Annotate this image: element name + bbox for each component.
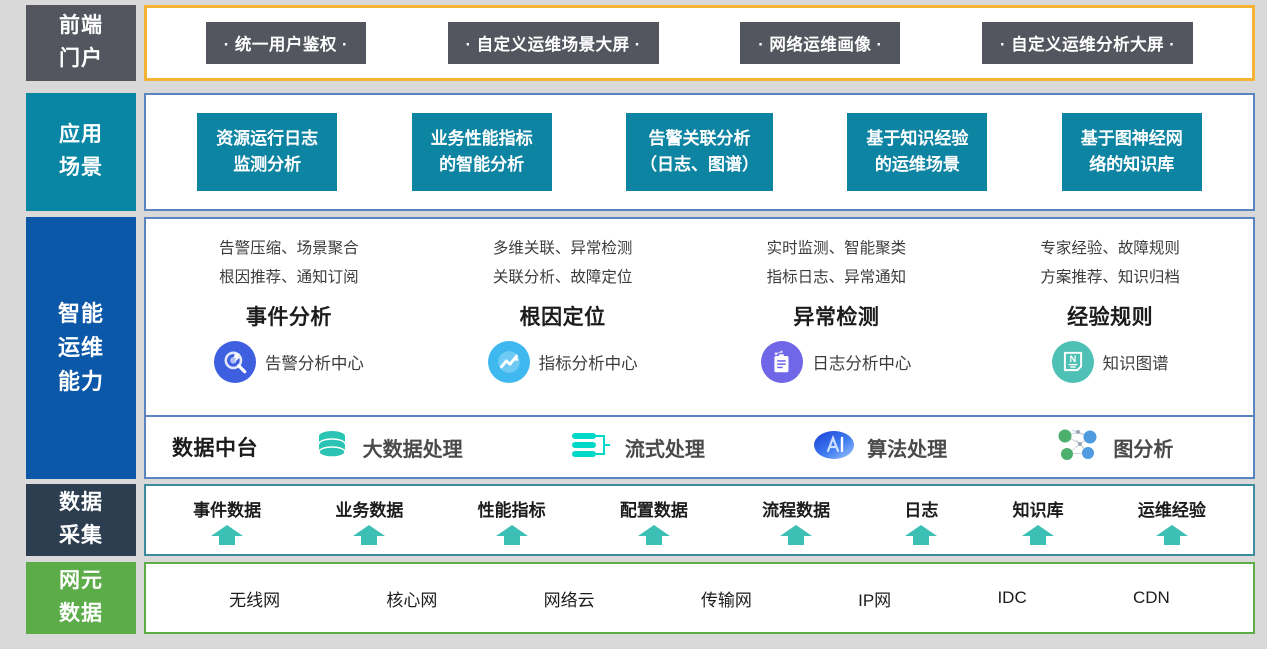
up-arrow-icon bbox=[210, 524, 244, 546]
app-card-alarm-correlation-line1: 告警关联分析 bbox=[640, 126, 759, 152]
data-platform-item-stream[interactable]: 流式处理 bbox=[570, 428, 705, 467]
data-platform-title: 数据中台 bbox=[172, 432, 258, 462]
capability-anomaly-detection-bullets: 实时监测、智能聚类 指标日志、异常通知 bbox=[767, 235, 907, 292]
app-card-gnn-knowledge-base-line2: 络的知识库 bbox=[1076, 152, 1188, 178]
clipboard-log-icon bbox=[761, 341, 803, 383]
capability-event-analysis-icon-row[interactable]: 告警分析中心 bbox=[214, 341, 364, 383]
layer-label-aiops-line1: 智能 bbox=[58, 297, 104, 331]
data-platform-label-stream: 流式处理 bbox=[625, 433, 705, 462]
layer-label-apps-line2: 场景 bbox=[59, 152, 103, 185]
ai-icon bbox=[812, 428, 856, 467]
capability-experience-rules-title: 经验规则 bbox=[1067, 301, 1153, 331]
ne-item-core[interactable]: 核心网 bbox=[386, 586, 437, 611]
data-platform-items: 大数据处理 流式处理 bbox=[258, 426, 1227, 469]
bullet-line: 指标日志、异常通知 bbox=[767, 264, 907, 293]
trend-up-icon bbox=[488, 341, 530, 383]
capability-root-cause-icon-label: 指标分析中心 bbox=[539, 350, 638, 374]
app-card-business-kpi-line2: 的智能分析 bbox=[426, 152, 538, 178]
ne-item-wireless[interactable]: 无线网 bbox=[229, 586, 280, 611]
collection-item-process-data[interactable]: 流程数据 bbox=[762, 496, 830, 546]
collection-item-business-data[interactable]: 业务数据 bbox=[335, 496, 403, 546]
up-arrow-icon bbox=[1155, 524, 1189, 546]
collection-label: 性能指标 bbox=[478, 496, 546, 521]
data-platform-panel: 数据中台 大数据处理 bbox=[144, 417, 1255, 479]
app-card-gnn-knowledge-base-line1: 基于图神经网 bbox=[1076, 126, 1188, 152]
collection-label: 配置数据 bbox=[620, 496, 688, 521]
collection-item-performance-kpi[interactable]: 性能指标 bbox=[478, 496, 546, 546]
app-card-resource-log-line2: 监测分析 bbox=[211, 152, 323, 178]
capability-event-analysis-bullets: 告警压缩、场景聚合 根因推荐、通知订阅 bbox=[219, 235, 359, 292]
layer-label-collection-line2: 采集 bbox=[59, 520, 103, 553]
collection-item-event-data[interactable]: 事件数据 bbox=[193, 496, 261, 546]
capability-event-analysis-icon-label: 告警分析中心 bbox=[265, 350, 364, 374]
app-card-resource-log-line1: 资源运行日志 bbox=[211, 126, 323, 152]
app-card-alarm-correlation-line2: （日志、图谱） bbox=[640, 152, 759, 178]
bullet-line: 实时监测、智能聚类 bbox=[767, 235, 907, 264]
ne-item-transport[interactable]: 传输网 bbox=[701, 586, 752, 611]
up-arrow-icon bbox=[637, 524, 671, 546]
bullet-line: 多维关联、异常检测 bbox=[493, 235, 633, 264]
layer-network-element-data: 网元 数据 无线网 核心网 网络云 传输网 IP网 IDC CDN bbox=[0, 562, 1267, 634]
up-arrow-icon bbox=[352, 524, 386, 546]
collection-item-logs[interactable]: 日志 bbox=[904, 496, 938, 546]
knowledge-doc-icon: N bbox=[1052, 341, 1094, 383]
network-elements-panel: 无线网 核心网 网络云 传输网 IP网 IDC CDN bbox=[144, 562, 1255, 634]
capability-experience-rules-icon-row[interactable]: N 知识图谱 bbox=[1052, 341, 1169, 383]
up-arrow-icon bbox=[1021, 524, 1055, 546]
capability-anomaly-detection-icon-label: 日志分析中心 bbox=[812, 350, 911, 374]
capability-event-analysis: 告警压缩、场景聚合 根因推荐、通知订阅 事件分析 bbox=[152, 229, 426, 411]
bullet-line: 方案推荐、知识归档 bbox=[1040, 264, 1180, 293]
portal-panel: · 统一用户鉴权 · · 自定义运维场景大屏 · · 网络运维画像 · · 自定… bbox=[144, 5, 1255, 81]
app-card-knowledge-experience-line2: 的运维场景 bbox=[861, 152, 973, 178]
stream-icon bbox=[570, 428, 614, 467]
ne-item-ip[interactable]: IP网 bbox=[858, 586, 891, 611]
layer-label-apps: 应用 场景 bbox=[26, 93, 136, 211]
portal-chip-custom-ops-dashboard[interactable]: · 自定义运维场景大屏 · bbox=[448, 22, 659, 64]
aiops-stack: 告警压缩、场景聚合 根因推荐、通知订阅 事件分析 bbox=[144, 217, 1255, 479]
collection-label: 日志 bbox=[904, 496, 938, 521]
portal-chip-custom-analysis-dashboard[interactable]: · 自定义运维分析大屏 · bbox=[982, 22, 1193, 64]
capability-event-analysis-title: 事件分析 bbox=[246, 301, 332, 331]
collection-label: 业务数据 bbox=[335, 496, 403, 521]
app-card-business-kpi-line1: 业务性能指标 bbox=[426, 126, 538, 152]
database-icon bbox=[312, 428, 352, 467]
app-card-alarm-correlation[interactable]: 告警关联分析 （日志、图谱） bbox=[626, 113, 773, 192]
apps-panel: 资源运行日志 监测分析 业务性能指标 的智能分析 告警关联分析 （日志、图谱） … bbox=[144, 93, 1255, 211]
capability-root-cause: 多维关联、异常检测 关联分析、故障定位 根因定位 指标分析中心 bbox=[426, 229, 700, 411]
collection-label: 运维经验 bbox=[1138, 496, 1206, 521]
alert-radar-icon bbox=[214, 341, 256, 383]
layer-front-end-portal: 前端 门户 · 统一用户鉴权 · · 自定义运维场景大屏 · · 网络运维画像 … bbox=[0, 5, 1267, 81]
app-card-knowledge-experience[interactable]: 基于知识经验 的运维场景 bbox=[847, 113, 987, 192]
collection-item-config-data[interactable]: 配置数据 bbox=[620, 496, 688, 546]
collection-label: 流程数据 bbox=[762, 496, 830, 521]
bullet-line: 专家经验、故障规则 bbox=[1040, 235, 1180, 264]
capabilities-panel: 告警压缩、场景聚合 根因推荐、通知订阅 事件分析 bbox=[144, 217, 1255, 417]
capability-anomaly-detection-title: 异常检测 bbox=[793, 301, 879, 331]
layer-label-collection: 数据 采集 bbox=[26, 484, 136, 556]
layer-label-portal: 前端 门户 bbox=[26, 5, 136, 81]
layer-label-ne-line1: 网元 bbox=[59, 565, 103, 598]
data-platform-item-algorithm[interactable]: 算法处理 bbox=[812, 428, 947, 467]
data-platform-label-algorithm: 算法处理 bbox=[867, 433, 947, 462]
layer-label-aiops: 智能 运维 能力 bbox=[26, 217, 136, 479]
data-platform-item-graph[interactable]: 图分析 bbox=[1054, 426, 1173, 469]
graph-network-icon bbox=[1054, 426, 1102, 469]
data-platform-label-graph: 图分析 bbox=[1113, 433, 1173, 462]
app-card-knowledge-experience-line1: 基于知识经验 bbox=[861, 126, 973, 152]
layer-label-aiops-line2: 运维 bbox=[58, 331, 104, 365]
capability-experience-rules-bullets: 专家经验、故障规则 方案推荐、知识归档 bbox=[1040, 235, 1180, 292]
capability-root-cause-title: 根因定位 bbox=[520, 301, 606, 331]
ne-item-idc[interactable]: IDC bbox=[997, 588, 1026, 608]
capability-experience-rules: 专家经验、故障规则 方案推荐、知识归档 经验规则 N bbox=[973, 229, 1247, 411]
bullet-line: 根因推荐、通知订阅 bbox=[219, 264, 359, 293]
collection-item-ops-experience[interactable]: 运维经验 bbox=[1138, 496, 1206, 546]
up-arrow-icon bbox=[904, 524, 938, 546]
data-platform-item-bigdata[interactable]: 大数据处理 bbox=[312, 428, 463, 467]
layer-label-ne-line2: 数据 bbox=[59, 598, 103, 631]
ne-item-cdn[interactable]: CDN bbox=[1133, 588, 1170, 608]
layer-label-portal-line2: 门户 bbox=[59, 43, 103, 76]
bullet-line: 关联分析、故障定位 bbox=[493, 264, 633, 293]
layer-label-collection-line1: 数据 bbox=[59, 487, 103, 520]
collection-label: 知识库 bbox=[1013, 496, 1064, 521]
layer-label-network-elements: 网元 数据 bbox=[26, 562, 136, 634]
app-card-business-kpi[interactable]: 业务性能指标 的智能分析 bbox=[412, 113, 552, 192]
app-card-gnn-knowledge-base[interactable]: 基于图神经网 络的知识库 bbox=[1062, 113, 1202, 192]
portal-chip-unified-auth[interactable]: · 统一用户鉴权 · bbox=[206, 22, 366, 64]
layer-label-aiops-line3: 能力 bbox=[58, 365, 104, 399]
svg-text:N: N bbox=[1069, 354, 1076, 364]
app-card-resource-log[interactable]: 资源运行日志 监测分析 bbox=[197, 113, 337, 192]
bullet-line: 告警压缩、场景聚合 bbox=[219, 235, 359, 264]
collection-item-knowledge-base[interactable]: 知识库 bbox=[1013, 496, 1064, 546]
capability-root-cause-icon-row[interactable]: 指标分析中心 bbox=[488, 341, 638, 383]
capability-anomaly-detection-icon-row[interactable]: 日志分析中心 bbox=[761, 341, 911, 383]
layer-application-scenarios: 应用 场景 资源运行日志 监测分析 业务性能指标 的智能分析 告警关联分析 （日… bbox=[0, 93, 1267, 211]
layer-label-apps-line1: 应用 bbox=[59, 119, 103, 152]
architecture-diagram: 前端 门户 · 统一用户鉴权 · · 自定义运维场景大屏 · · 网络运维画像 … bbox=[0, 0, 1267, 649]
portal-chip-network-ops-profile[interactable]: · 网络运维画像 · bbox=[740, 22, 900, 64]
capability-experience-rules-icon-label: 知识图谱 bbox=[1103, 350, 1169, 374]
collection-panel: 事件数据 业务数据 性能指标 配置数据 流程数据 日志 bbox=[144, 484, 1255, 556]
up-arrow-icon bbox=[495, 524, 529, 546]
layer-label-portal-line1: 前端 bbox=[59, 10, 103, 43]
layer-data-collection: 数据 采集 事件数据 业务数据 性能指标 配置数据 流程数据 bbox=[0, 484, 1267, 556]
ne-item-network-cloud[interactable]: 网络云 bbox=[544, 586, 595, 611]
up-arrow-icon bbox=[779, 524, 813, 546]
layer-intelligent-ops: 智能 运维 能力 告警压缩、场景聚合 根因推荐、通知订阅 事件分析 bbox=[0, 217, 1267, 479]
data-platform-label-bigdata: 大数据处理 bbox=[363, 433, 463, 462]
collection-label: 事件数据 bbox=[193, 496, 261, 521]
capability-root-cause-bullets: 多维关联、异常检测 关联分析、故障定位 bbox=[493, 235, 633, 292]
capability-anomaly-detection: 实时监测、智能聚类 指标日志、异常通知 异常检测 bbox=[700, 229, 974, 411]
